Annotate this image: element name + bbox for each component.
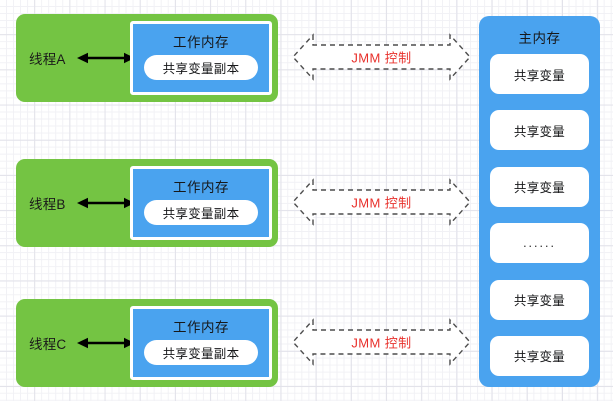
working-memory-title-b: 工作内存 (133, 176, 269, 196)
thread-label-b: 线程B (29, 193, 66, 213)
working-memory-c[interactable]: 工作内存 共享变量副本 (130, 306, 272, 380)
shared-variable-copy-a: 共享变量副本 (144, 55, 258, 80)
shared-variable-item: 共享变量 (490, 336, 589, 376)
diagram-canvas: 线程A 工作内存 共享变量副本 JMM 控制 线程B (0, 0, 613, 401)
shared-variable-item: 共享变量 (490, 280, 589, 320)
working-memory-a[interactable]: 工作内存 共享变量副本 (130, 21, 272, 95)
shared-variable-copy-b: 共享变量副本 (144, 200, 258, 225)
thread-block-c[interactable]: 线程C 工作内存 共享变量副本 (16, 299, 278, 387)
thread-bidirectional-arrow-icon (77, 337, 135, 350)
thread-block-b[interactable]: 线程B 工作内存 共享变量副本 (16, 159, 278, 247)
shared-variable-copy-c: 共享变量副本 (144, 340, 258, 365)
main-memory-block[interactable]: 主内存 共享变量 共享变量 共享变量 ...... 共享变量 共享变量 (479, 16, 600, 387)
shared-variable-item: 共享变量 (490, 54, 589, 94)
working-memory-b[interactable]: 工作内存 共享变量副本 (130, 166, 272, 240)
jmm-control-arrow-b: JMM 控制 (291, 178, 472, 226)
shared-variable-ellipsis-item: ...... (490, 223, 589, 263)
working-memory-title-a: 工作内存 (133, 31, 269, 51)
jmm-control-arrow-a: JMM 控制 (291, 33, 472, 81)
working-memory-title-c: 工作内存 (133, 316, 269, 336)
jmm-control-arrow-c: JMM 控制 (291, 318, 472, 366)
thread-bidirectional-arrow-icon (77, 197, 135, 210)
shared-variable-list: 共享变量 共享变量 共享变量 ...... 共享变量 共享变量 (490, 54, 589, 376)
shared-variable-item: 共享变量 (490, 110, 589, 150)
thread-label-a: 线程A (29, 48, 66, 68)
thread-bidirectional-arrow-icon (77, 52, 135, 65)
thread-label-c: 线程C (29, 333, 66, 353)
main-memory-title: 主内存 (479, 27, 600, 47)
shared-variable-item: 共享变量 (490, 167, 589, 207)
thread-block-a[interactable]: 线程A 工作内存 共享变量副本 (16, 14, 278, 102)
